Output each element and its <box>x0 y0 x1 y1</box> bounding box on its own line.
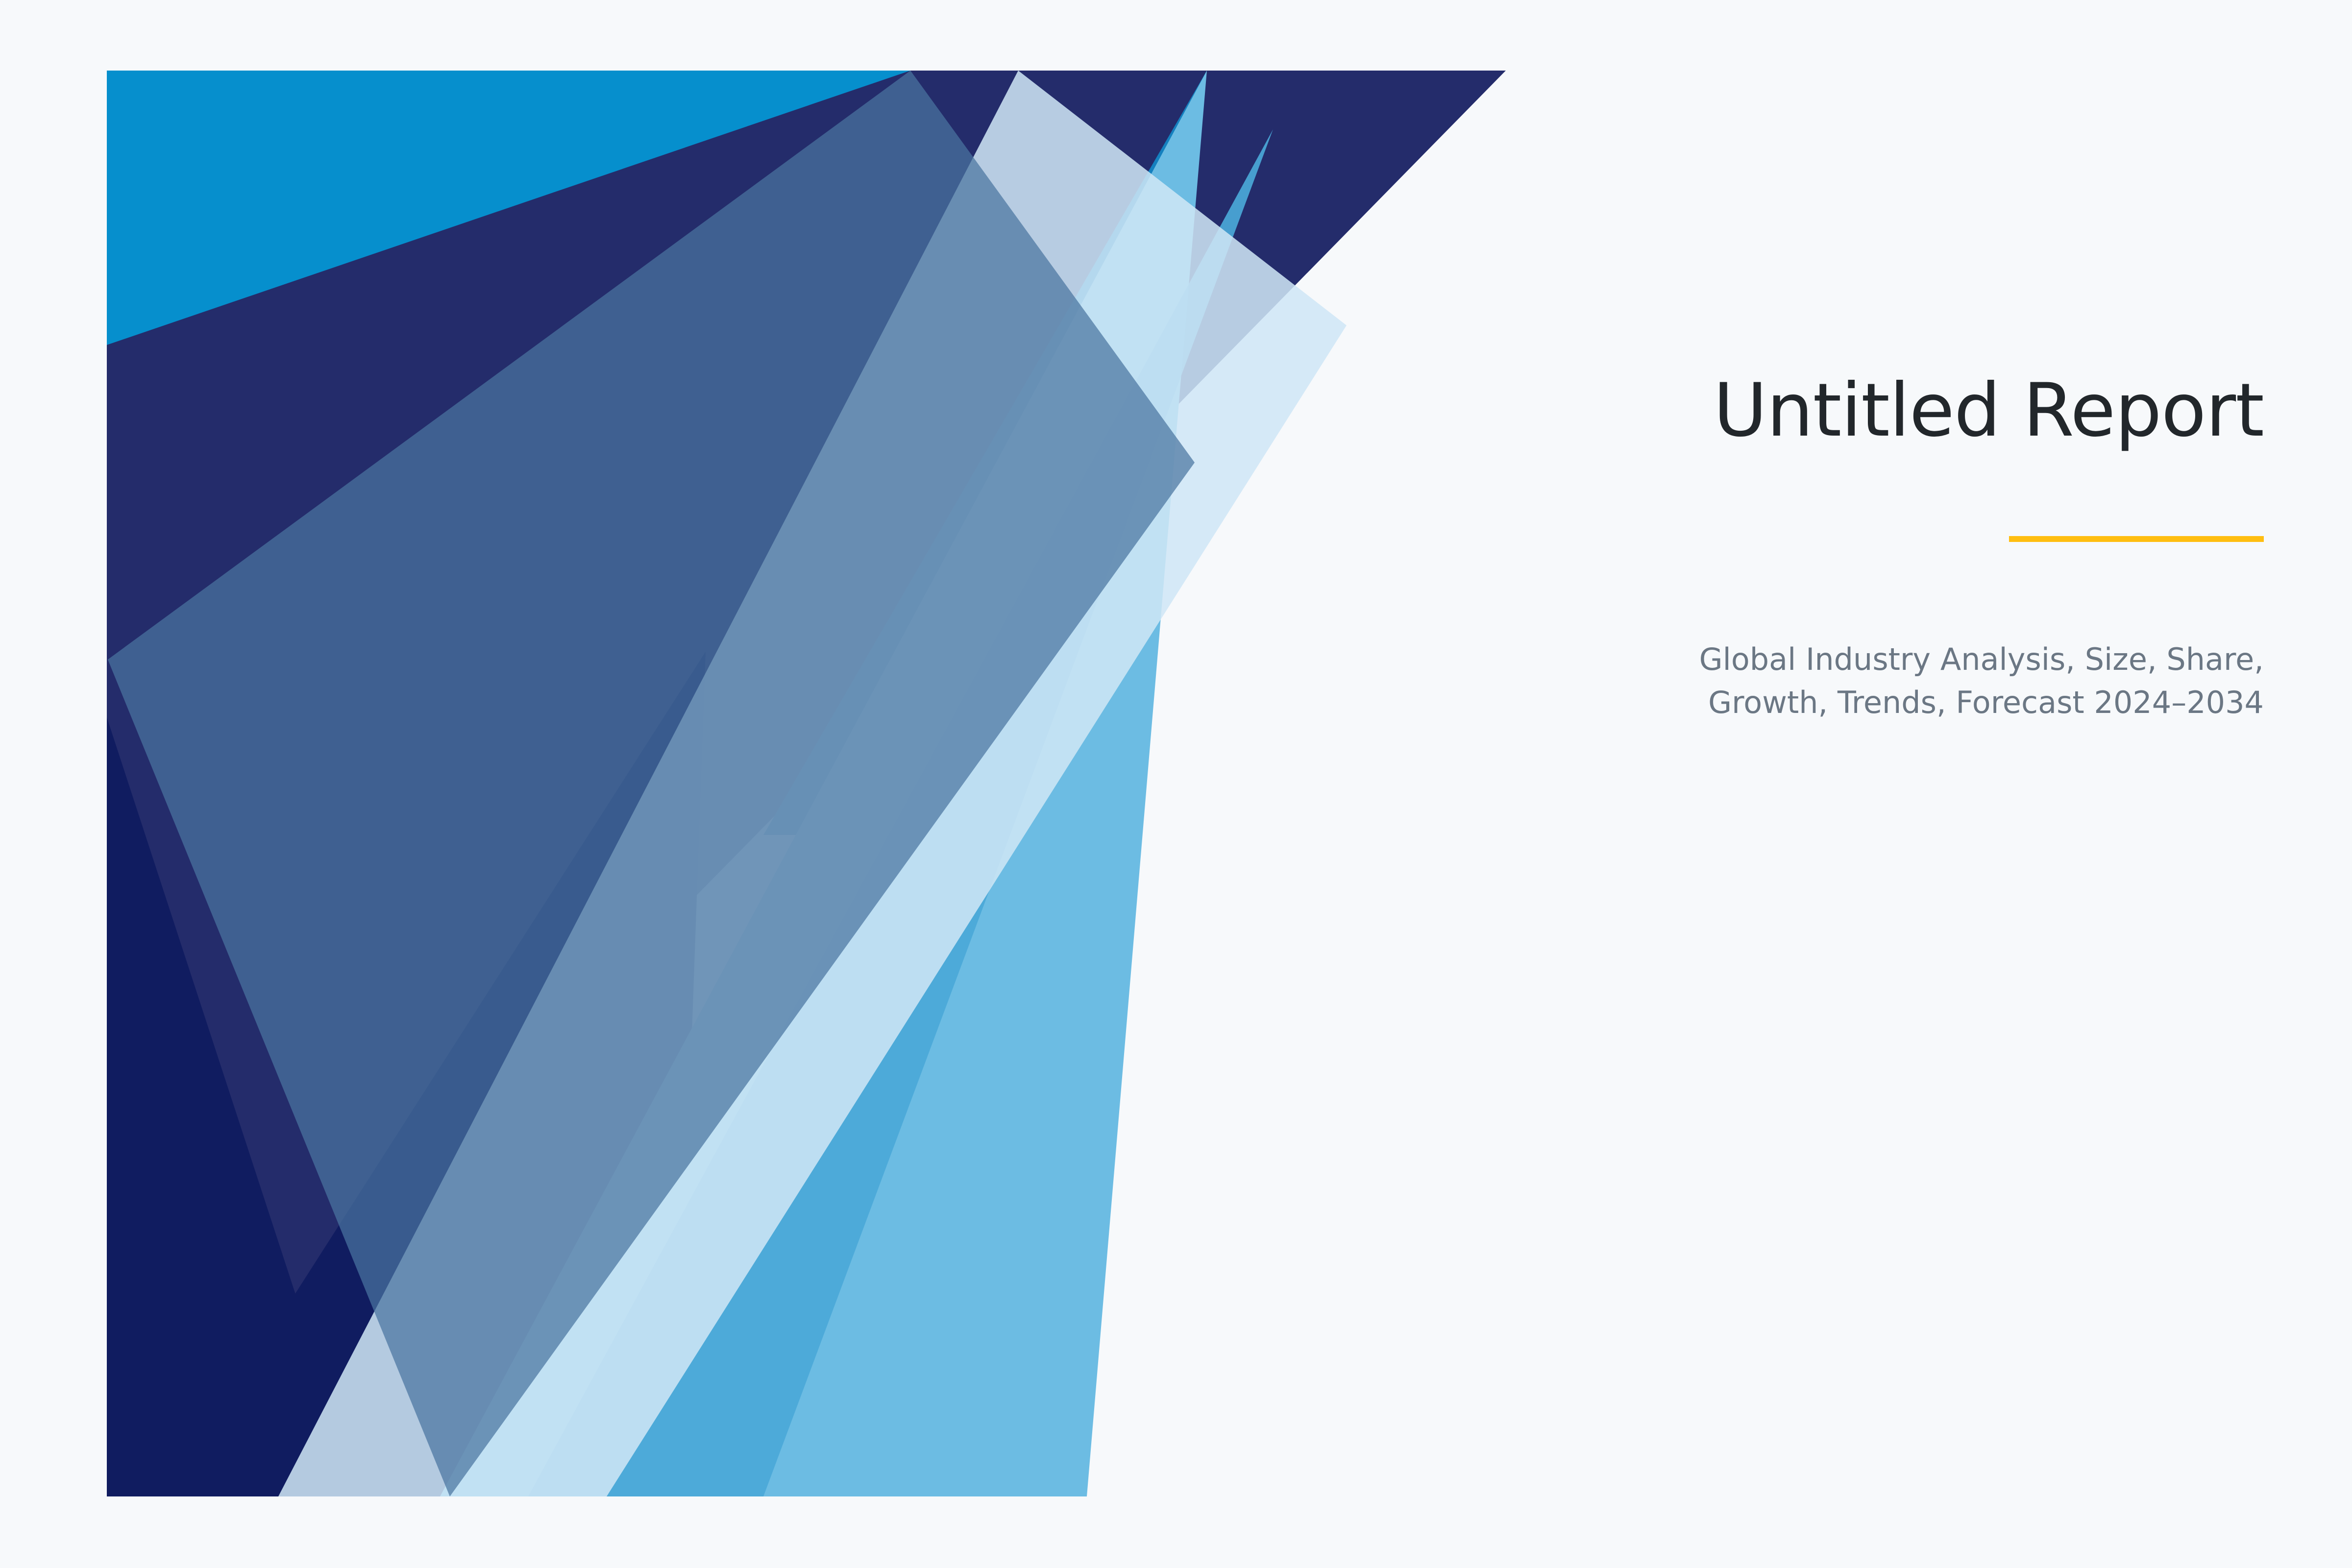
title-rule-container <box>1421 536 2264 542</box>
accent-rule <box>2009 536 2264 542</box>
report-cover-page: Untitled Report Global Industry Analysis… <box>0 0 2352 1568</box>
cover-artwork <box>107 71 1508 1496</box>
page-subtitle: Global Industry Analysis, Size, Share, G… <box>1627 638 2264 724</box>
page-title: Untitled Report <box>1421 372 2264 450</box>
title-block: Untitled Report Global Industry Analysis… <box>1421 372 2264 724</box>
